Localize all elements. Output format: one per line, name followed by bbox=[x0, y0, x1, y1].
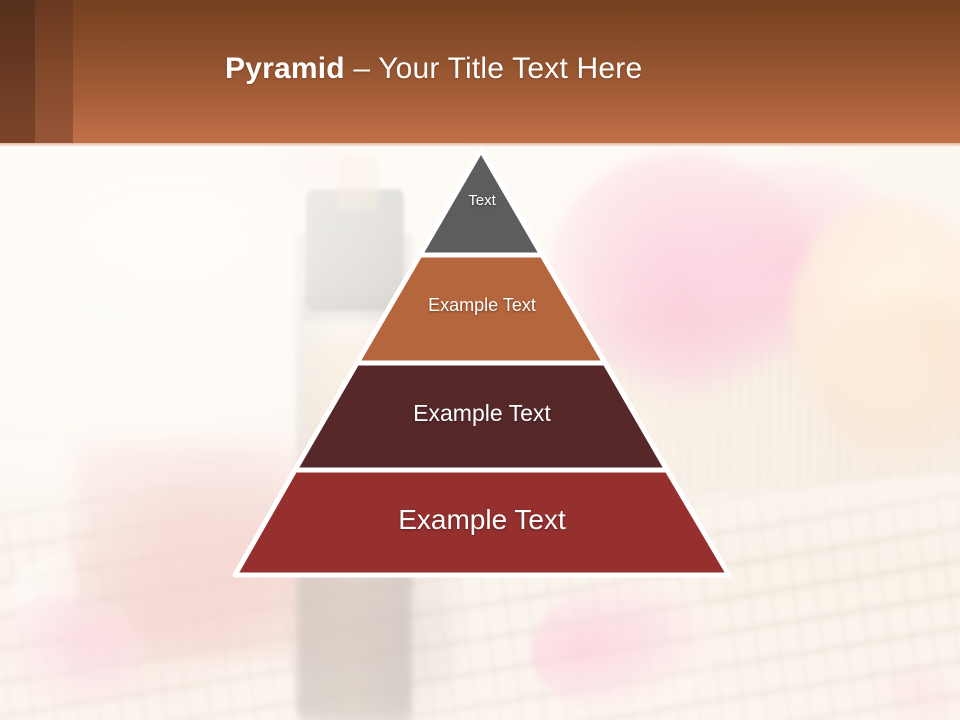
title-bar: Pyramid – Your Title Text Here bbox=[0, 0, 960, 143]
pyramid-tier-4[interactable] bbox=[235, 470, 729, 575]
pyramid-tier-1[interactable] bbox=[420, 150, 542, 255]
pyramid-diagram[interactable]: Text Example Text Example Text Example T… bbox=[228, 143, 736, 583]
header-accent-stripe-dark bbox=[0, 0, 35, 143]
pyramid-tier-2[interactable] bbox=[357, 255, 605, 363]
header-accent-stripe-mid bbox=[35, 0, 73, 143]
slide: Pyramid – Your Title Text Here bbox=[0, 0, 960, 720]
page-title-rest: – Your Title Text Here bbox=[345, 52, 643, 85]
pyramid-tier-3[interactable] bbox=[295, 363, 667, 470]
page-title-bold: Pyramid bbox=[225, 52, 345, 85]
page-title: Pyramid – Your Title Text Here bbox=[225, 52, 642, 86]
